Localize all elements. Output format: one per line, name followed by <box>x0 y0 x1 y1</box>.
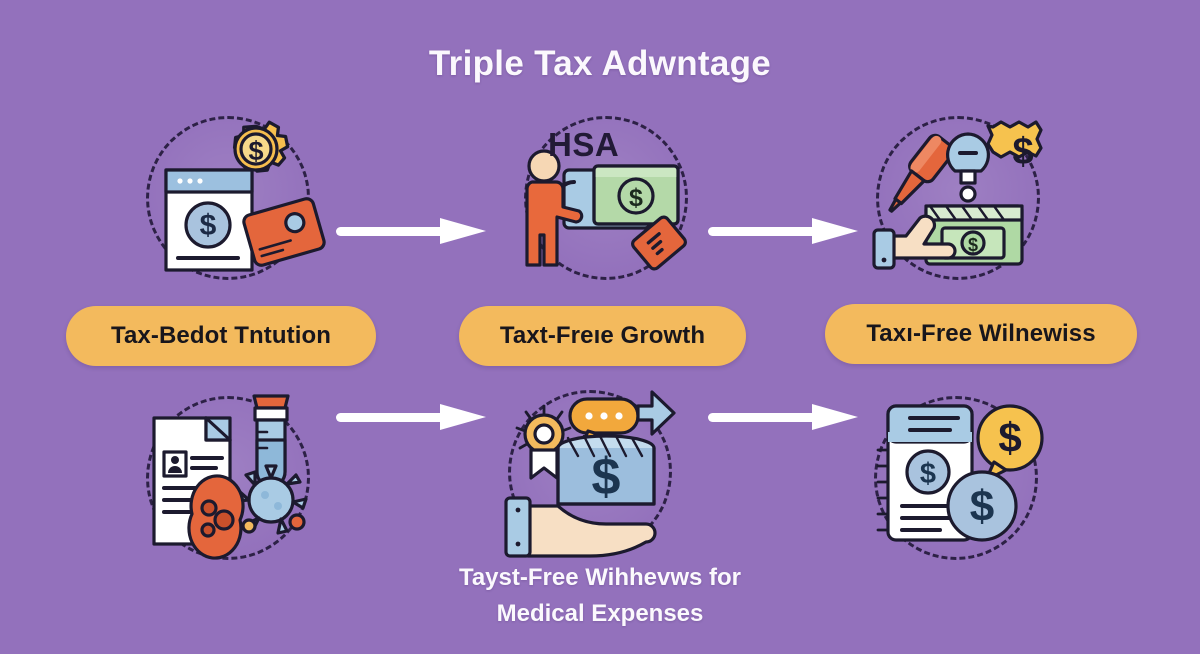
page-title: Triple Tax Adwntage <box>0 44 1200 84</box>
contribution-icons: $ $ <box>138 108 338 288</box>
svg-text:$: $ <box>592 448 621 506</box>
caption-line-2: Medical Expenses <box>0 596 1200 632</box>
svg-text:$: $ <box>1012 131 1033 173</box>
svg-text:$: $ <box>629 184 643 212</box>
statement-reimbursement-icon-cluster: $ $ $ <box>866 388 1066 568</box>
svg-text:$: $ <box>970 482 994 531</box>
pill-label: Taxt-Freıe Growth <box>500 322 705 350</box>
savings-payout-icon-cluster: $ <box>500 382 700 562</box>
caption-line-1: Tayst-Free Wihhevws for <box>0 560 1200 596</box>
hsa-badge-label: HSA <box>548 126 619 164</box>
medical-records-icon-cluster <box>138 388 338 568</box>
arrow-row2-step1-to-step2 <box>336 404 486 430</box>
svg-text:$: $ <box>920 458 936 490</box>
wellness-withdrawal-icons: $ $ <box>868 108 1068 288</box>
svg-text:$: $ <box>968 235 978 255</box>
bottom-caption: Tayst-Free Wihhevws for Medical Expenses <box>0 560 1200 632</box>
svg-text:$: $ <box>200 209 217 242</box>
medical-records-icons <box>138 388 338 568</box>
svg-text:$: $ <box>248 136 263 166</box>
arrow-row1-step1-to-step2 <box>336 218 486 244</box>
arrow-row1-step2-to-step3 <box>708 218 858 244</box>
pill-tax-deduction[interactable]: Tax-Bedot Tntution <box>66 306 376 366</box>
savings-payout-icons: $ <box>500 382 700 562</box>
svg-text:$: $ <box>998 414 1021 461</box>
pill-tax-free-growth[interactable]: Taxt-Freıe Growth <box>459 306 746 366</box>
wellness-withdrawal-icon-cluster: $ $ <box>868 108 1068 288</box>
pill-label: Taxı-Free Wilnewiss <box>866 320 1095 348</box>
contribution-icon-cluster: $ $ <box>138 108 338 288</box>
statement-reimbursement-icons: $ $ $ <box>866 388 1066 568</box>
pill-label: Tax-Bedot Tntution <box>111 322 331 350</box>
arrow-row2-step2-to-step3 <box>708 404 858 430</box>
infographic-canvas: Triple Tax Adwntage $ $ <box>0 0 1200 654</box>
pill-tax-free-wellness[interactable]: Taxı-Free Wilnewiss <box>825 304 1137 364</box>
